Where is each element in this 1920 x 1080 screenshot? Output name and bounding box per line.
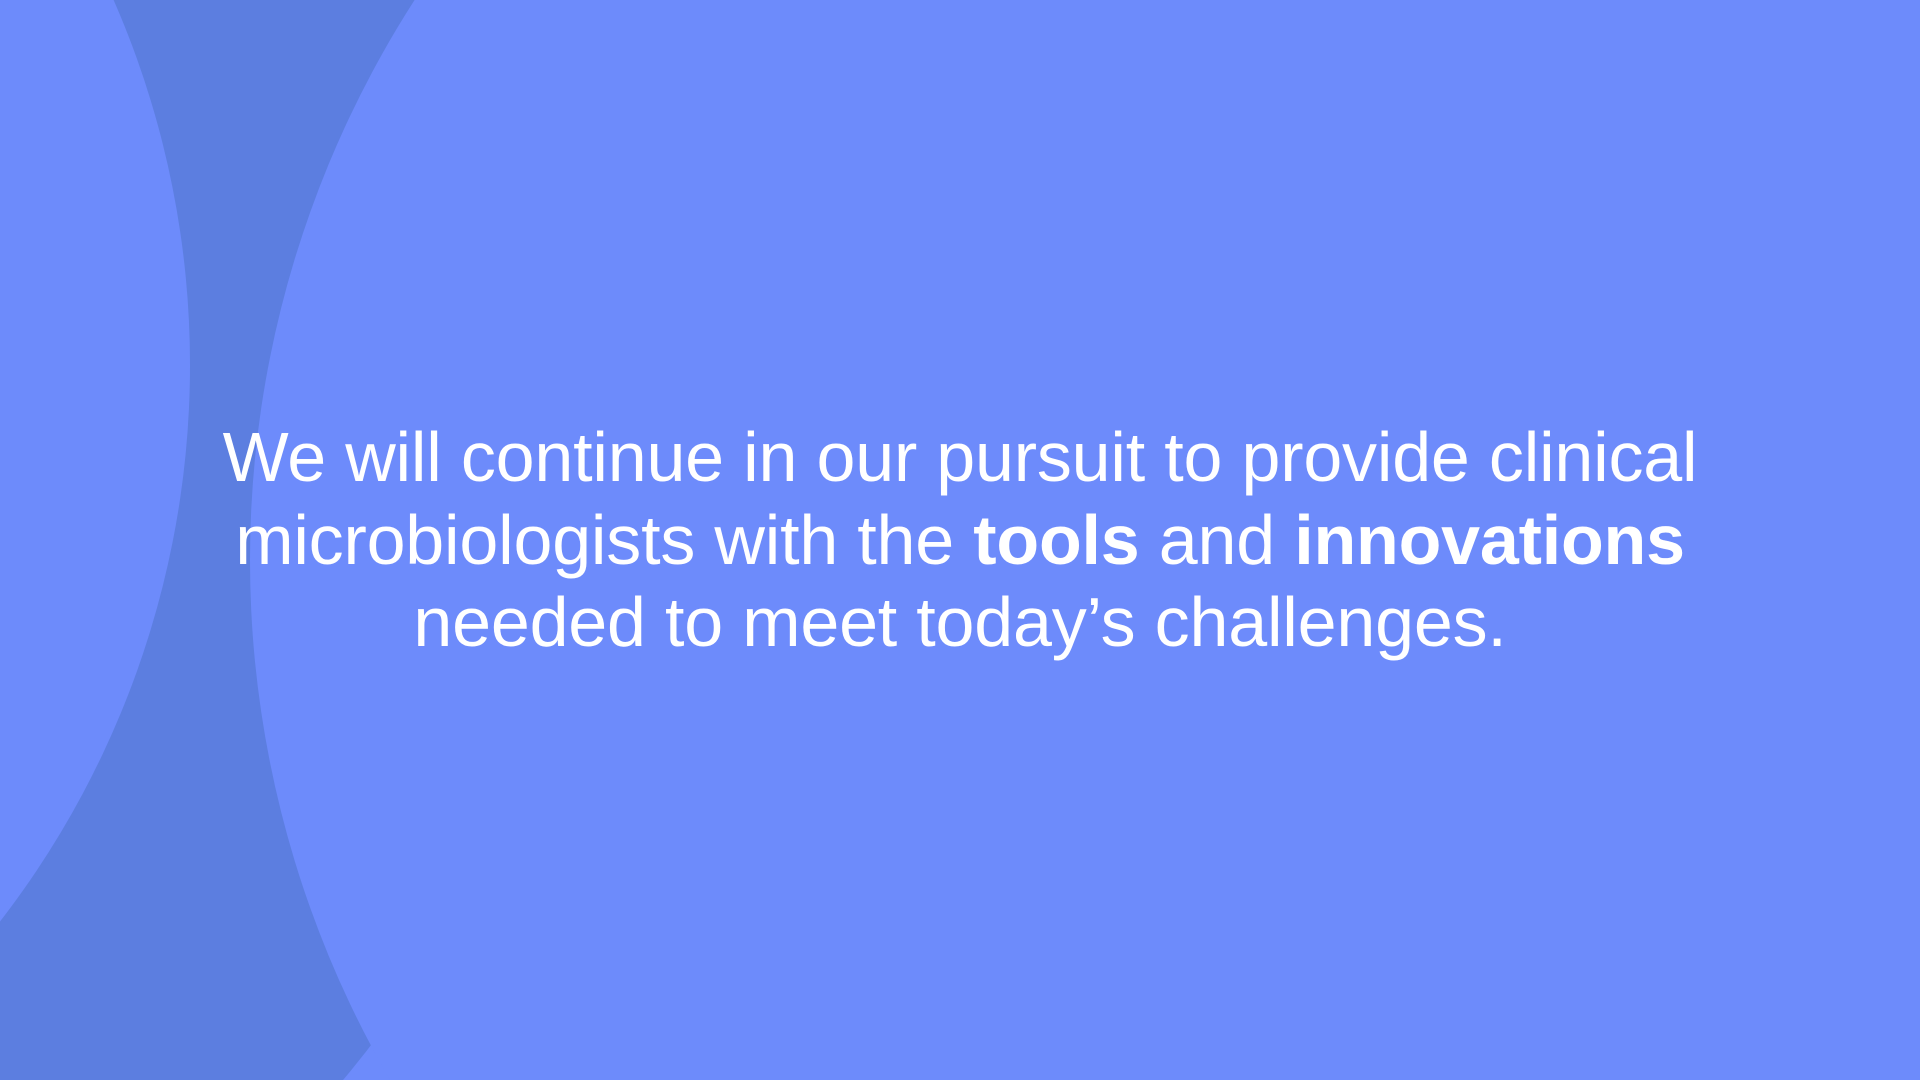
- quote-block: We will continue in our pursuit to provi…: [0, 0, 1920, 1080]
- quote-emphasis-innovations: innovations: [1294, 501, 1685, 579]
- presentation-slide: We will continue in our pursuit to provi…: [0, 0, 1920, 1080]
- quote-line-2: microbiologists with the tools and innov…: [110, 499, 1810, 582]
- quote-text: We will continue in our pursuit to provi…: [110, 416, 1810, 664]
- quote-emphasis-tools: tools: [973, 501, 1139, 579]
- quote-line-1-text: We will continue in our pursuit to provi…: [223, 418, 1698, 496]
- quote-line-1: We will continue in our pursuit to provi…: [110, 416, 1810, 499]
- quote-line-2-mid: and: [1140, 501, 1295, 579]
- quote-line-3-text: needed to meet today’s challenges.: [413, 583, 1506, 661]
- quote-line-2-lead: microbiologists with the: [235, 501, 973, 579]
- quote-line-3: needed to meet today’s challenges.: [110, 581, 1810, 664]
